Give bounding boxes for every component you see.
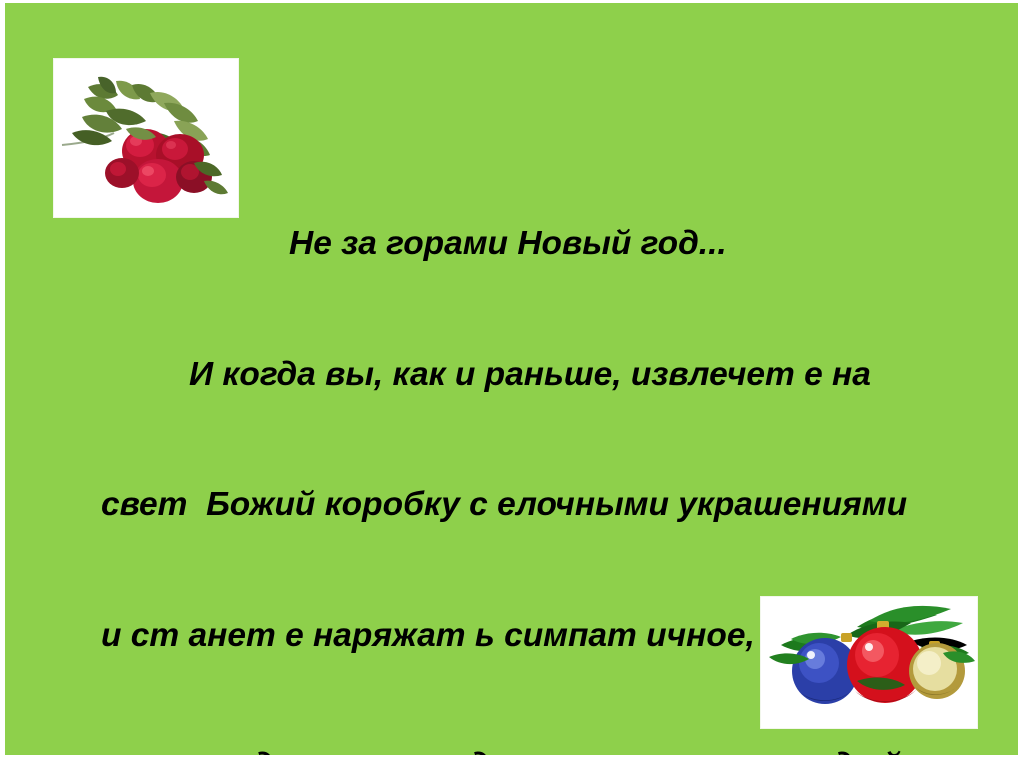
slide-canvas: Не за горами Новый год... И когда вы, ка… (5, 3, 1018, 755)
paragraph-one-line-5: колючее деревце – подержит е в руках каж… (101, 744, 989, 755)
gold-ornament (909, 643, 965, 699)
ornaments-image (760, 596, 978, 729)
ornaments-illustration (761, 597, 977, 728)
paragraph-one-line-3: свет Божий коробку с елочными украшениям… (101, 483, 989, 527)
paragraph-one-line-1: Не за горами Новый год... (101, 222, 989, 266)
paragraph-one-line-2: И когда вы, как и раньше, извлечет е на (101, 353, 989, 397)
